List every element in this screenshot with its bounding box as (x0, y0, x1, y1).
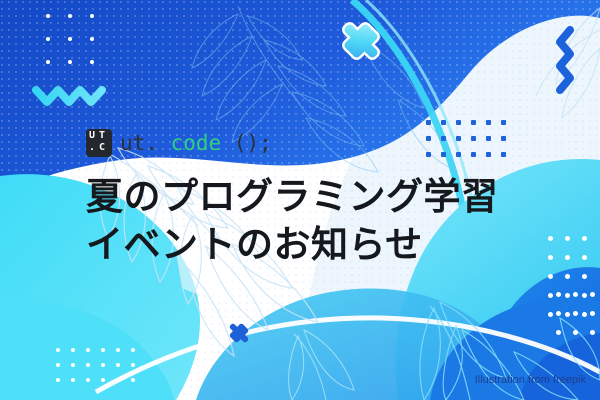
wordmark-accent: code (171, 131, 222, 155)
headline-line-1: 夏のプログラミング学習 (86, 172, 499, 222)
wordmark-suffix: (); (234, 131, 272, 155)
logo-letter-t: T (99, 130, 105, 142)
brand-wordmark: ut. code (); (120, 129, 272, 157)
wordmark-prefix: ut. (120, 131, 158, 155)
headline-line-2: イベントのお知らせ (86, 220, 499, 270)
dot-grid-bottom-right (556, 292, 600, 349)
logo-dot: . (89, 142, 95, 154)
zigzag-vertical-icon (552, 26, 578, 98)
banner-text-block: U T . C ut. code (); 夏のプログラミング学習 イベントのお知… (86, 128, 499, 270)
dot-grid-bottom-left (56, 348, 146, 393)
zigzag-horizontal-icon (32, 82, 106, 108)
logo-letter-u: U (89, 130, 95, 142)
promo-banner: U T . C ut. code (); 夏のプログラミング学習 イベントのお知… (0, 0, 600, 400)
utcode-logo-icon: U T . C (86, 129, 112, 157)
logo-letter-c: C (99, 142, 105, 154)
brand-logo-row: U T . C ut. code (); (86, 128, 499, 158)
dot-grid-top-left (46, 14, 112, 83)
illustration-credit: Illustration from freepik (475, 374, 586, 386)
x-mark-small-icon (228, 322, 250, 344)
x-mark-large-icon (340, 20, 382, 62)
